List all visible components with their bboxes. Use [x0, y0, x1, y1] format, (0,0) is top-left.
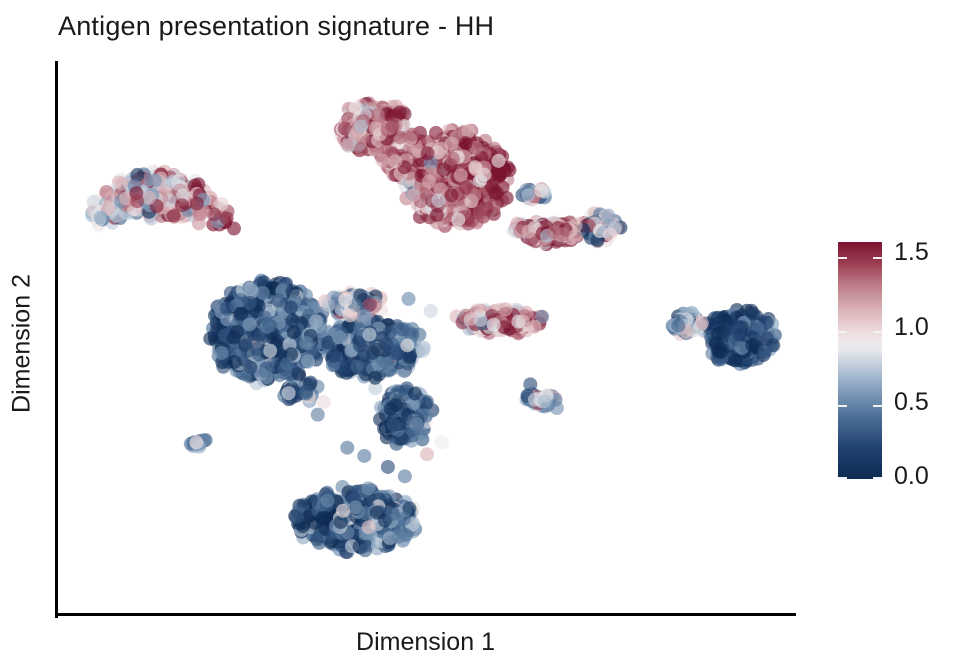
scatter-plot-area[interactable] [58, 62, 796, 613]
chart-root: Antigen presentation signature - HH Dime… [0, 0, 960, 672]
x-axis-label: Dimension 1 [55, 628, 796, 657]
colorbar-label-1: 1.0 [894, 315, 929, 340]
colorbar-label-3: 0.0 [894, 464, 929, 489]
colorbar-tick-1-right [873, 405, 882, 407]
colorbar-legend: 1.51.00.50.0 [838, 242, 958, 492]
colorbar-tick-0-left [838, 477, 847, 479]
colorbar-label-0: 1.5 [894, 240, 929, 265]
y-axis-label: Dimension 2 [8, 64, 37, 624]
scatter-points-canvas [58, 62, 796, 613]
colorbar-tick-2-left [838, 331, 847, 333]
colorbar-gradient [838, 242, 882, 479]
page-title: Antigen presentation signature - HH [58, 11, 494, 42]
colorbar-tick-1-left [838, 405, 847, 407]
colorbar-tick-0-right [873, 477, 882, 479]
x-axis-line [55, 613, 796, 616]
colorbar-tick-2-right [873, 331, 882, 333]
colorbar-tick-3-right [873, 257, 882, 259]
colorbar-tick-3-left [838, 257, 847, 259]
colorbar-label-2: 0.5 [894, 390, 929, 415]
